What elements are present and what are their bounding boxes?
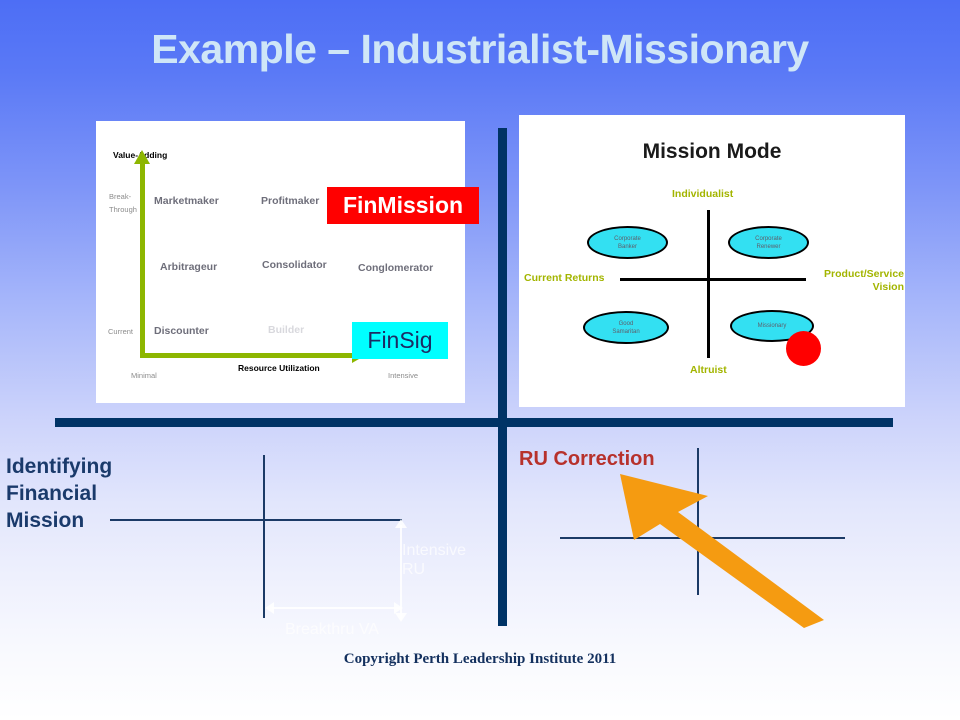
mission-mode-axis-top-label: Individualist	[672, 188, 733, 200]
node-label-line2: Samaritan	[612, 329, 639, 335]
fva-y-tick-current: Current	[108, 326, 133, 337]
fva-x-axis-title: Resource Utilization	[238, 363, 320, 373]
mission-mode-horizontal-axis	[620, 278, 806, 281]
fva-cell-conglomerator: Conglomerator	[358, 262, 433, 274]
finsig-badge[interactable]: FinSig	[352, 322, 448, 359]
lower-left-heading: Identifying Financial Mission	[6, 453, 112, 534]
va-measure-arrowhead-right-icon	[394, 602, 403, 614]
lower-left-va-measure-line	[272, 607, 400, 609]
mission-mode-axis-bottom-label: Altruist	[690, 364, 727, 376]
heading-line-1: Identifying	[6, 453, 112, 480]
fva-cell-profitmaker: Profitmaker	[261, 195, 319, 207]
va-measure-arrowhead-left-icon	[265, 602, 274, 614]
ghost-label-intensive-ru-line2: RU	[402, 560, 425, 579]
fva-x-tick-intensive: Intensive	[388, 370, 418, 381]
finmission-badge[interactable]: FinMission	[327, 187, 479, 224]
fva-y-axis-line	[140, 162, 145, 357]
mission-highlight-marker	[786, 331, 821, 366]
fva-y-tick-breakthrough-line1: Break-	[109, 191, 131, 202]
fva-x-tick-minimal: Minimal	[131, 370, 157, 381]
node-label-line1: Missionary	[758, 322, 787, 330]
fva-cell-arbitrageur: Arbitrageur	[160, 261, 217, 273]
fva-cell-discounter: Discounter	[154, 325, 209, 337]
node-label-line2: Renewer	[756, 244, 780, 250]
ru-measure-arrowhead-down-icon	[395, 613, 407, 622]
vertical-divider	[498, 128, 507, 626]
horizontal-divider	[55, 418, 893, 427]
mission-node-good-samaritan[interactable]: Good Samaritan	[583, 311, 669, 344]
node-label-line1: Corporate	[614, 236, 641, 242]
ghost-label-intensive-ru-line1: Intensive	[402, 541, 466, 560]
page-title: Example – Industrialist-Missionary	[0, 26, 960, 73]
node-label-line1: Good	[619, 321, 634, 327]
node-label-line2: Banker	[618, 244, 637, 250]
fva-cell-builder: Builder	[268, 324, 304, 336]
mission-node-corporate-renewer[interactable]: Corporate Renewer	[728, 226, 809, 259]
copyright-text: Copyright Perth Leadership Institute 201…	[0, 651, 960, 668]
mission-mode-axis-right-label-line1: Product/Service	[812, 268, 904, 280]
mission-node-corporate-banker[interactable]: Corporate Banker	[587, 226, 668, 259]
mission-mode-title: Mission Mode	[519, 140, 905, 164]
fva-cell-consolidator: Consolidator	[262, 259, 327, 271]
fva-y-tick-breakthrough-line2: Through	[109, 204, 137, 215]
node-label-line1: Corporate	[755, 236, 782, 242]
mission-mode-axis-right-label-line2: Vision	[812, 281, 904, 293]
lower-left-horizontal-axis	[110, 519, 402, 521]
mission-mode-axis-left-label: Current Returns	[524, 272, 605, 284]
ru-correction-arrow-icon	[612, 468, 832, 628]
heading-line-3: Mission	[6, 507, 112, 534]
ru-measure-arrowhead-up-icon	[395, 519, 407, 528]
fva-x-axis-line	[140, 353, 355, 358]
fva-cell-marketmaker: Marketmaker	[154, 195, 219, 207]
lower-left-vertical-axis	[263, 455, 265, 618]
ghost-label-breakthru-va: Breakthru VA	[285, 620, 379, 639]
mission-mode-vertical-axis	[707, 210, 710, 358]
heading-line-2: Financial	[6, 480, 112, 507]
